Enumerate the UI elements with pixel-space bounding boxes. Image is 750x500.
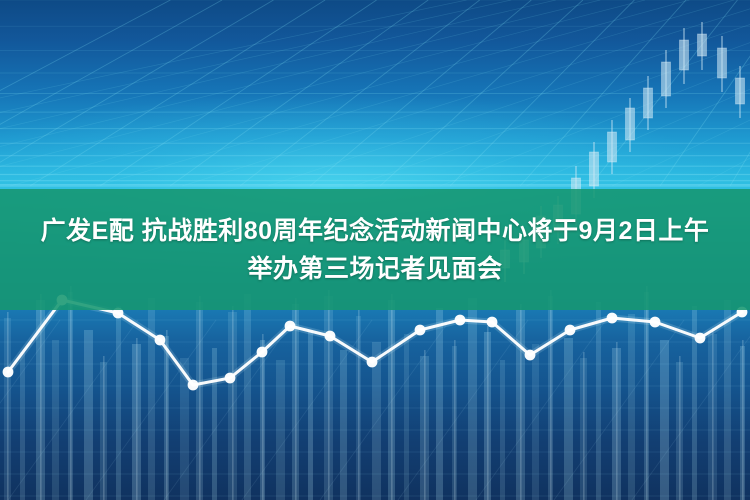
headline-band (0, 189, 750, 310)
banner-image: 广发E配 抗战胜利80周年纪念活动新闻中心将于9月2日上午 举办第三场记者见面会 (0, 0, 750, 500)
